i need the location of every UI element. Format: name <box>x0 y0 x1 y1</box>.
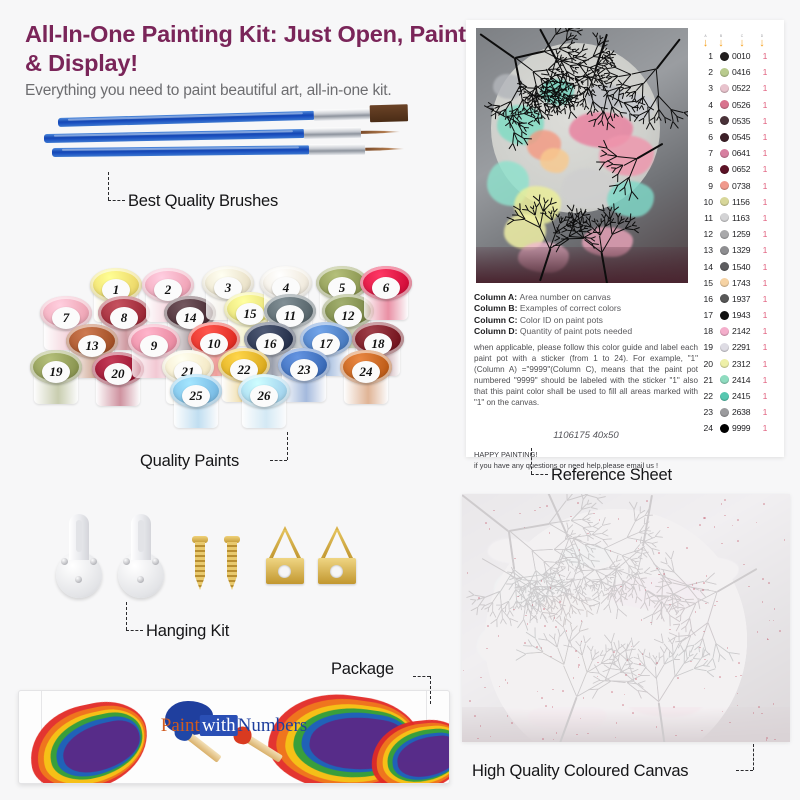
swatch-row: 1212591 <box>698 226 776 242</box>
color-swatch-dot <box>720 197 729 206</box>
canvas-number-marker <box>650 622 652 624</box>
tree-branch <box>550 210 551 214</box>
happy-painting-line1: HAPPY PAINTING! <box>474 450 702 461</box>
swatch-area-number: 21 <box>698 375 716 385</box>
legend-row: Column A: Area number on canvas <box>474 292 696 303</box>
legend-column-label: Column A: <box>474 292 520 302</box>
tree-branch <box>567 46 571 47</box>
screw-icon <box>192 536 208 590</box>
leader-reference-horizontal <box>531 474 548 475</box>
canvas-preview-thumbnail <box>476 28 688 283</box>
swatch-color-id: 2291 <box>732 342 758 352</box>
swatch-area-number: 17 <box>698 310 716 320</box>
swatch-color-id: 2415 <box>732 391 758 401</box>
leader-reference-vertical <box>531 448 532 474</box>
swatch-area-number: 8 <box>698 164 716 174</box>
canvas-number-marker <box>757 631 759 633</box>
canvas-number-marker <box>625 674 627 676</box>
leader-brushes-vertical <box>108 172 109 200</box>
tree-branch <box>558 98 559 104</box>
tree-branch <box>519 203 520 210</box>
package-box-image: PaintwithNumbers <box>18 690 450 784</box>
color-swatch-dot <box>720 262 729 271</box>
tree-branch <box>647 106 648 112</box>
canvas-number-marker <box>543 608 545 610</box>
swatch-row: 706411 <box>698 145 776 161</box>
tree-branch <box>523 107 524 111</box>
swatch-color-cell <box>716 278 732 287</box>
swatch-area-number: 7 <box>698 148 716 158</box>
down-arrow-icon: ↓ <box>755 38 769 48</box>
legend-row: Column C: Color ID on paint pots <box>474 315 696 326</box>
canvas-number-marker <box>541 647 543 649</box>
canvas-number-marker <box>658 552 660 554</box>
swatch-color-id: 1943 <box>732 310 758 320</box>
swatch-row: 305221 <box>698 80 776 96</box>
canvas-number-marker <box>766 737 768 739</box>
swatch-color-cell <box>716 197 732 206</box>
color-swatch-dot <box>720 375 729 384</box>
paint-pot-number: 25 <box>182 385 210 407</box>
caption-package: Package <box>331 660 394 679</box>
canvas-number-marker <box>627 659 629 661</box>
swatch-quantity: 1 <box>758 359 772 369</box>
paint-pot: 25 <box>170 374 222 428</box>
swatch-area-number: 3 <box>698 83 716 93</box>
tree-branch <box>661 609 662 619</box>
canvas-number-marker <box>562 690 564 692</box>
legend-column-label: Column B: <box>474 303 520 313</box>
canvas-number-marker <box>737 540 739 542</box>
swatch-color-id: 2638 <box>732 407 758 417</box>
swatch-area-number: 5 <box>698 116 716 126</box>
canvas-number-marker <box>635 678 637 680</box>
legend-column-text: Quantity of paint pots needed <box>520 326 632 336</box>
swatch-color-id: 1329 <box>732 245 758 255</box>
tree-branch <box>557 111 558 116</box>
swatch-color-cell <box>716 100 732 109</box>
canvas-number-marker <box>577 502 579 504</box>
canvas-number-marker <box>774 739 776 741</box>
swatch-color-id: 2142 <box>732 326 758 336</box>
canvas-number-marker <box>716 601 718 603</box>
swatch-area-number: 20 <box>698 359 716 369</box>
canvas-number-marker <box>622 704 624 706</box>
caption-hanging-kit: Hanging Kit <box>146 622 229 641</box>
swatch-color-id: 2414 <box>732 375 758 385</box>
brush-liner-fine-icon <box>52 144 404 157</box>
paint-brushes-image <box>14 112 444 178</box>
color-swatch-dot <box>720 181 729 190</box>
canvas-number-marker <box>474 715 476 717</box>
page-subtitle: Everything you need to paint beautiful a… <box>25 82 475 100</box>
tree-branch <box>680 616 681 622</box>
canvas-number-marker <box>489 528 491 530</box>
paint-pot: 19 <box>30 350 82 404</box>
tree-branch <box>586 610 587 617</box>
canvas-number-marker <box>704 517 706 519</box>
color-swatch-dot <box>720 246 729 255</box>
brush-liner-medium-icon <box>44 127 400 143</box>
swatch-quantity: 1 <box>758 342 772 352</box>
tree-branch <box>554 590 558 591</box>
tree-branch <box>531 596 535 597</box>
color-swatch-dot <box>720 84 729 93</box>
tree-branch <box>573 38 578 39</box>
swatch-color-id: 0545 <box>732 132 758 142</box>
swatch-quantity: 1 <box>758 83 772 93</box>
color-swatch-dot <box>720 408 729 417</box>
canvas-number-marker <box>513 609 515 611</box>
d-ring-hanger-icon <box>316 526 358 584</box>
swatch-area-number: 24 <box>698 423 716 433</box>
legend-column-label: Column C: <box>474 315 520 325</box>
art-foreground-band <box>462 707 790 742</box>
swatch-color-cell <box>716 165 732 174</box>
tree-branch <box>560 594 561 600</box>
tree-branch <box>685 598 694 599</box>
paint-pot: 26 <box>238 374 290 428</box>
swatch-color-id: 0535 <box>732 116 758 126</box>
swatch-color-id: 1937 <box>732 294 758 304</box>
swatch-color-id: 0641 <box>732 148 758 158</box>
canvas-number-marker <box>693 588 695 590</box>
swatch-color-cell <box>716 408 732 417</box>
swatch-area-number: 9 <box>698 181 716 191</box>
swatch-row: 907381 <box>698 178 776 194</box>
color-swatch-dot <box>720 133 729 142</box>
d-ring-hanger-icon <box>264 526 306 584</box>
canvas-number-marker <box>686 547 688 549</box>
down-arrow-icon: ↓ <box>729 38 755 48</box>
swatch-color-cell <box>716 133 732 142</box>
paint-pot-number: 6 <box>372 277 400 299</box>
leader-canvas-vertical <box>753 744 754 770</box>
swatch-area-number: 4 <box>698 100 716 110</box>
swatch-row: 2124141 <box>698 372 776 388</box>
coloured-canvas-image <box>462 494 790 742</box>
wall-hook-icon <box>118 514 164 598</box>
swatch-row: 505351 <box>698 113 776 129</box>
swatch-quantity: 1 <box>758 294 772 304</box>
swatch-color-id: 0738 <box>732 181 758 191</box>
canvas-number-marker <box>524 642 526 644</box>
swatch-color-id: 0652 <box>732 164 758 174</box>
legend-column-text: Area number on canvas <box>520 292 611 302</box>
swatch-quantity: 1 <box>758 213 772 223</box>
canvas-number-marker <box>738 662 740 664</box>
canvas-number-marker <box>581 620 583 622</box>
swatch-color-id: 1156 <box>732 197 758 207</box>
swatch-color-id: 9999 <box>732 423 758 433</box>
tree-branch <box>598 223 599 227</box>
swatch-row: 1922911 <box>698 339 776 355</box>
canvas-number-marker <box>544 625 546 627</box>
package-logo: PaintwithNumbers <box>161 715 308 737</box>
leader-package-horizontal <box>413 676 430 677</box>
swatch-color-cell <box>716 181 732 190</box>
color-swatch-table: A ↓ B ↓ C ↓ D ↓ 100101204161305221405261… <box>698 28 776 437</box>
color-swatch-dot <box>720 343 729 352</box>
swatch-area-number: 1 <box>698 51 716 61</box>
swatch-color-cell <box>716 262 732 271</box>
canvas-number-marker <box>575 650 577 652</box>
legend-row: Column D: Quantity of paint pots needed <box>474 326 696 337</box>
canvas-number-marker <box>696 582 698 584</box>
leader-package-vertical <box>430 676 431 704</box>
swatch-area-number: 18 <box>698 326 716 336</box>
swatch-color-cell <box>716 343 732 352</box>
color-swatch-dot <box>720 278 729 287</box>
swatch-area-number: 10 <box>698 197 716 207</box>
screw-icon <box>224 536 240 590</box>
canvas-number-marker <box>646 500 648 502</box>
canvas-number-marker <box>727 647 729 649</box>
tree-branch <box>524 138 532 139</box>
canvas-number-marker <box>702 589 704 591</box>
swatch-quantity: 1 <box>758 100 772 110</box>
tree-branch <box>582 570 594 571</box>
swatch-row: 1821421 <box>698 323 776 339</box>
leader-paints-vertical <box>287 432 288 460</box>
legend-column-label: Column D: <box>474 326 520 336</box>
tree-branch <box>618 175 619 183</box>
swatch-quantity: 1 <box>758 262 772 272</box>
canvas-number-marker <box>762 578 764 580</box>
swatch-color-id: 0010 <box>732 51 758 61</box>
swatch-quantity: 1 <box>758 407 772 417</box>
tree-branch <box>624 187 625 195</box>
paint-pot-number: 26 <box>250 385 278 407</box>
swatch-color-cell <box>716 375 732 384</box>
tree-branch <box>674 659 681 660</box>
canvas-number-marker <box>487 625 489 627</box>
canvas-number-marker <box>721 503 723 505</box>
swatch-color-cell <box>716 294 732 303</box>
canvas-number-marker <box>597 662 599 664</box>
paint-pot-number: 19 <box>42 361 70 383</box>
canvas-number-marker <box>773 703 775 705</box>
swatch-row: 2224151 <box>698 388 776 404</box>
canvas-number-marker <box>714 605 716 607</box>
swatch-color-id: 0522 <box>732 83 758 93</box>
swatch-color-cell <box>716 68 732 77</box>
color-swatch-dot <box>720 359 729 368</box>
tree-branch <box>534 628 535 639</box>
swatch-area-number: 19 <box>698 342 716 352</box>
swatch-area-number: 15 <box>698 278 716 288</box>
caption-brushes: Best Quality Brushes <box>128 192 278 211</box>
swatch-color-id: 1743 <box>732 278 758 288</box>
canvas-number-marker <box>673 706 675 708</box>
swatch-row: 2499991 <box>698 420 776 436</box>
canvas-number-marker <box>485 522 487 524</box>
swatch-row: 1619371 <box>698 291 776 307</box>
brush-flat-icon <box>58 108 408 127</box>
canvas-number-marker <box>779 630 781 632</box>
swatch-color-cell <box>716 359 732 368</box>
paint-pot: 24 <box>340 350 392 404</box>
canvas-number-marker <box>613 651 615 653</box>
swatch-area-number: 11 <box>698 213 716 223</box>
canvas-number-marker <box>703 582 705 584</box>
swatch-quantity: 1 <box>758 423 772 433</box>
swatch-area-number: 13 <box>698 245 716 255</box>
package-logo-word2: with <box>200 715 238 736</box>
tree-branch <box>611 54 616 55</box>
swatch-color-cell <box>716 392 732 401</box>
swatch-row: 605451 <box>698 129 776 145</box>
swatch-area-number: 23 <box>698 407 716 417</box>
tree-branch <box>598 227 600 236</box>
canvas-number-marker <box>641 619 643 621</box>
color-swatch-dot <box>720 116 729 125</box>
swatch-row: 2326381 <box>698 404 776 420</box>
swatch-area-number: 6 <box>698 132 716 142</box>
tree-branch <box>634 564 635 568</box>
swatch-quantity: 1 <box>758 310 772 320</box>
legend-column-text: Examples of correct colors <box>520 303 621 313</box>
canvas-number-marker <box>768 582 770 584</box>
canvas-number-marker <box>559 601 561 603</box>
canvas-number-marker <box>663 573 665 575</box>
swatch-quantity: 1 <box>758 245 772 255</box>
swatch-row: 1111631 <box>698 210 776 226</box>
canvas-number-marker <box>639 663 641 665</box>
tree-branch <box>564 219 568 220</box>
swatch-color-cell <box>716 424 732 433</box>
swatch-area-number: 12 <box>698 229 716 239</box>
tree-branch <box>587 535 588 541</box>
swatch-area-number: 2 <box>698 67 716 77</box>
paint-pot-number: 23 <box>290 359 318 381</box>
tree-branch <box>589 531 594 532</box>
swatch-row: 1011561 <box>698 194 776 210</box>
swatch-row: 1517431 <box>698 275 776 291</box>
canvas-number-marker <box>507 715 509 717</box>
color-swatch-dot <box>720 100 729 109</box>
legend-row: Column B: Examples of correct colors <box>474 303 696 314</box>
swatch-color-cell <box>716 311 732 320</box>
swatch-color-id: 2312 <box>732 359 758 369</box>
swatch-quantity: 1 <box>758 116 772 126</box>
swatch-quantity: 1 <box>758 391 772 401</box>
leader-hanging-horizontal <box>126 630 143 631</box>
swatch-row: 100101 <box>698 48 776 64</box>
swatch-color-id: 0416 <box>732 67 758 77</box>
tree-branch <box>517 91 522 92</box>
swatch-color-cell <box>716 149 732 158</box>
art-foreground-band <box>476 247 688 283</box>
swatch-color-cell <box>716 246 732 255</box>
canvas-number-marker <box>480 725 482 727</box>
canvas-number-marker <box>737 519 739 521</box>
canvas-number-marker <box>541 580 543 582</box>
canvas-number-marker <box>656 726 658 728</box>
swatch-color-cell <box>716 230 732 239</box>
infographic-stage: All-In-One Painting Kit: Just Open, Pain… <box>0 0 800 800</box>
down-arrow-icon: ↓ <box>698 38 713 48</box>
color-swatch-dot <box>720 392 729 401</box>
swatch-row: 405261 <box>698 97 776 113</box>
canvas-number-marker <box>656 662 658 664</box>
instructions-paragraph: when applicable, please follow this colo… <box>474 342 698 408</box>
swatch-area-number: 14 <box>698 262 716 272</box>
canvas-number-marker <box>658 574 660 576</box>
canvas-number-marker <box>478 597 480 599</box>
package-logo-word3: Numbers <box>238 715 308 736</box>
swatch-row: 204161 <box>698 64 776 80</box>
canvas-number-marker <box>566 630 568 632</box>
canvas-number-marker <box>469 700 471 702</box>
swatch-table-header: A ↓ B ↓ C ↓ D ↓ <box>698 28 776 48</box>
canvas-number-marker <box>767 639 769 641</box>
swatch-quantity: 1 <box>758 67 772 77</box>
tree-branch <box>675 610 679 611</box>
swatch-quantity: 1 <box>758 181 772 191</box>
down-arrow-icon: ↓ <box>713 38 729 48</box>
tree-branch <box>652 601 659 602</box>
tree-branch <box>560 238 568 239</box>
canvas-number-marker <box>542 738 544 740</box>
swatch-table-body: 1001012041613052214052615053516054517064… <box>698 48 776 437</box>
leader-hanging-vertical <box>126 602 127 630</box>
swatch-color-cell <box>716 327 732 336</box>
swatch-row: 1415401 <box>698 258 776 274</box>
swatch-quantity: 1 <box>758 132 772 142</box>
swatch-area-number: 22 <box>698 391 716 401</box>
caption-paints: Quality Paints <box>140 452 239 471</box>
paint-blob <box>599 135 654 176</box>
canvas-number-marker <box>699 524 701 526</box>
tree-branch <box>562 558 567 559</box>
tree-branch <box>595 587 596 591</box>
canvas-number-marker <box>632 712 634 714</box>
swatch-quantity: 1 <box>758 375 772 385</box>
color-swatch-dot <box>720 327 729 336</box>
reference-sheet: Column A: Area number on canvasColumn B:… <box>466 20 784 457</box>
color-swatch-dot <box>720 424 729 433</box>
swatch-row: 806521 <box>698 161 776 177</box>
swatch-color-cell <box>716 116 732 125</box>
canvas-number-marker <box>507 682 509 684</box>
swatch-row: 1313291 <box>698 242 776 258</box>
color-swatch-dot <box>720 294 729 303</box>
canvas-number-marker <box>645 589 647 591</box>
swatch-color-id: 0526 <box>732 100 758 110</box>
package-logo-word1: Paint <box>161 715 200 736</box>
color-swatch-dot <box>720 149 729 158</box>
color-swatch-dot <box>720 213 729 222</box>
leader-brushes-horizontal <box>108 200 125 201</box>
canvas-number-marker <box>611 691 613 693</box>
swatch-quantity: 1 <box>758 278 772 288</box>
swatch-color-id: 1540 <box>732 262 758 272</box>
tree-branch <box>625 586 626 590</box>
tree-branch <box>517 140 518 146</box>
leader-paints-horizontal <box>270 460 287 461</box>
paint-pot: 6 <box>360 266 412 320</box>
canvas-number-marker <box>719 676 721 678</box>
canvas-number-marker <box>758 706 760 708</box>
canvas-number-marker <box>534 510 536 512</box>
canvas-number-marker <box>546 505 548 507</box>
canvas-number-marker <box>618 518 620 520</box>
canvas-number-marker <box>620 586 622 588</box>
canvas-number-marker <box>774 608 776 610</box>
swatch-quantity: 1 <box>758 164 772 174</box>
canvas-number-marker <box>714 526 716 528</box>
